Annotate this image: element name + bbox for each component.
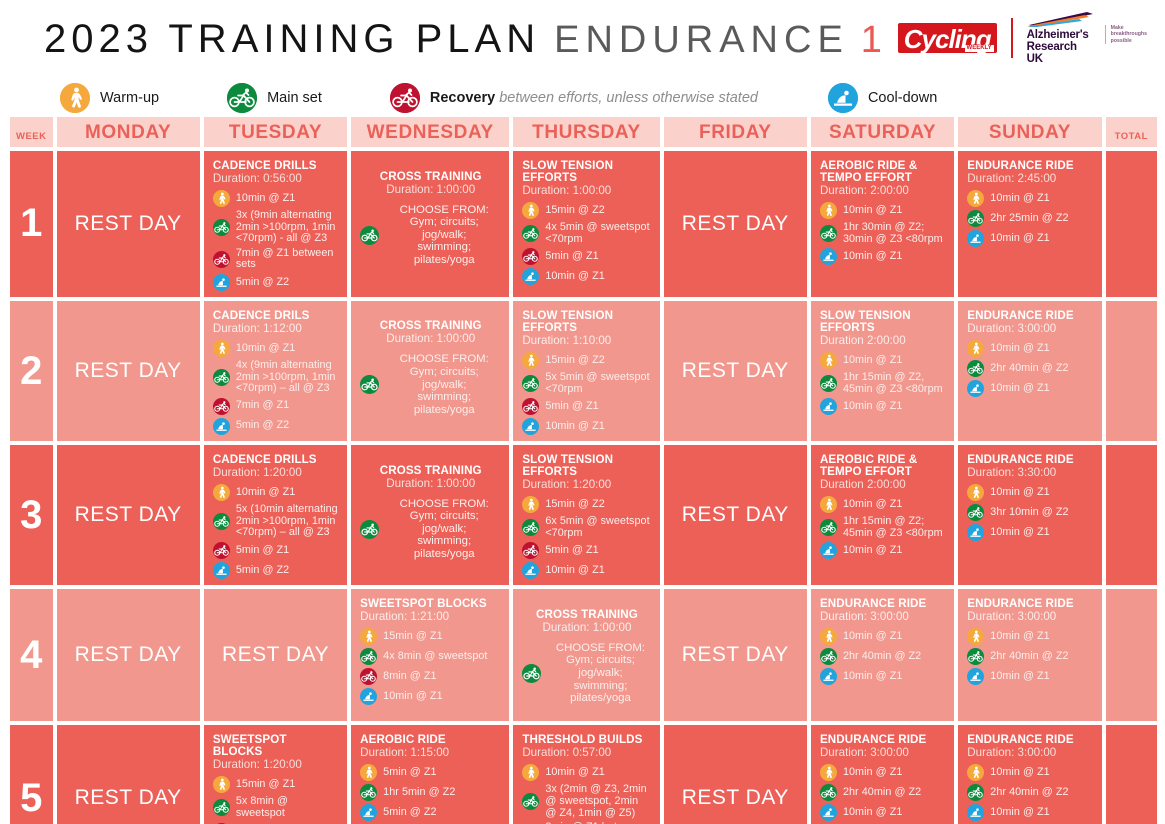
cell-monday[interactable]: REST DAY	[57, 151, 200, 297]
session-steps: 15min @ Z2 5x 5min @ sweetspot <70rpm 5m…	[522, 352, 651, 435]
cool-down-icon	[360, 688, 377, 705]
session-duration: Duration: 1:00:00	[360, 332, 501, 345]
session-duration: Duration: 3:30:00	[967, 466, 1093, 479]
table-row: 1 REST DAY CADENCE DRILLS Duration: 0:56…	[10, 151, 1157, 297]
session-title: CROSS TRAINING	[360, 171, 501, 183]
cell-saturday[interactable]: ENDURANCE RIDE Duration: 3:00:00 10min @…	[811, 589, 954, 721]
cell-sunday[interactable]: ENDURANCE RIDE Duration: 3:00:00 10min @…	[958, 589, 1101, 721]
warm-up-icon	[522, 496, 539, 513]
session-block: AEROBIC RIDE & TEMPO EFFORT Duration: 2:…	[811, 151, 954, 271]
session-title: CROSS TRAINING	[360, 320, 501, 332]
cell-monday[interactable]: REST DAY	[57, 725, 200, 824]
cell-total[interactable]	[1106, 151, 1157, 297]
session-step-text: 5min @ Z2	[236, 420, 289, 432]
session-step-text: 7min @ Z1 between sets	[236, 248, 339, 271]
session-block: SLOW TENSION EFFORTS Duration: 1:00:00 1…	[513, 151, 659, 291]
session-step-text: 15min @ Z2	[545, 355, 604, 367]
column-header-friday: FRIDAY	[664, 117, 807, 147]
session-step-text: 2hr 40min @ Z2	[990, 363, 1068, 375]
session-title: ENDURANCE RIDE	[820, 734, 946, 746]
session-title: ENDURANCE RIDE	[967, 160, 1093, 172]
session-step: 2hr 40min @ Z2	[967, 784, 1093, 801]
session-block: ENDURANCE RIDE Duration: 3:00:00 10min @…	[958, 589, 1101, 691]
session-step-text: 5min @ Z1	[236, 545, 289, 557]
cell-friday[interactable]: REST DAY	[664, 301, 807, 441]
rest-day-label: REST DAY	[664, 151, 807, 297]
session-step-text: 10min @ Z1	[990, 527, 1049, 539]
title-row: 2023 TRAINING PLAN ENDURANCE 1 Cycling W…	[18, 0, 1147, 69]
session-step: 10min @ Z1	[820, 248, 946, 265]
cell-wednesday[interactable]: CROSS TRAINING Duration: 1:00:00 CHOOSE …	[351, 445, 509, 585]
session-step: 10min @ Z1	[820, 764, 946, 781]
session-step: 2hr 40min @ Z2	[967, 360, 1093, 377]
recovery-icon	[360, 668, 377, 685]
session-step-text: 10min @ Z1	[990, 487, 1049, 499]
session-step: 10min @ Z1	[360, 688, 501, 705]
cool-down-icon	[522, 268, 539, 285]
recovery-icon	[522, 542, 539, 559]
session-duration: Duration: 1:10:00	[522, 334, 651, 347]
session-step-text: 10min @ Z1	[990, 631, 1049, 643]
rest-day-label: REST DAY	[57, 589, 200, 721]
alzheimers-research-uk-logo: Alzheimer'sResearchUK Makebreakthroughsp…	[1027, 11, 1147, 65]
session-duration: Duration: 1:00:00	[360, 477, 501, 490]
table-row: 4 REST DAY REST DAY SWEETSPOT BLOCKS Dur…	[10, 589, 1157, 721]
session-block: THRESHOLD BUILDS Duration: 0:57:00 10min…	[513, 725, 659, 824]
main-set-icon	[227, 83, 257, 113]
cell-saturday[interactable]: ENDURANCE RIDE Duration: 3:00:00 10min @…	[811, 725, 954, 824]
page-title: 2023 TRAINING PLAN	[44, 17, 540, 62]
cell-wednesday[interactable]: SWEETSPOT BLOCKS Duration: 1:21:00 15min…	[351, 589, 509, 721]
session-step-text: 10min @ Z1	[545, 271, 604, 283]
session-step: 4x 5min @ sweetspot <70rpm	[522, 222, 651, 245]
cell-saturday[interactable]: SLOW TENSION EFFORTS Duration 2:00:00 10…	[811, 301, 954, 441]
main-set-icon	[967, 648, 984, 665]
session-step: 10min @ Z1	[820, 542, 946, 559]
session-step: 6x 5min @ sweetspot <70rpm	[522, 516, 651, 539]
session-step: 1hr 15min @ Z2; 45min @ Z3 <80rpm	[820, 516, 946, 539]
rest-day-label: REST DAY	[664, 589, 807, 721]
training-plan-table: WEEK MONDAY TUESDAY WEDNESDAY THURSDAY F…	[10, 117, 1157, 824]
session-title: SLOW TENSION EFFORTS	[522, 160, 651, 184]
cell-thursday[interactable]: SLOW TENSION EFFORTS Duration: 1:20:00 1…	[513, 445, 659, 585]
cell-thursday[interactable]: SLOW TENSION EFFORTS Duration: 1:10:00 1…	[513, 301, 659, 441]
cool-down-icon	[820, 542, 837, 559]
recovery-icon	[390, 83, 420, 113]
page-subtitle: ENDURANCE	[554, 19, 849, 62]
plan-number: 1	[861, 19, 884, 62]
cell-sunday[interactable]: ENDURANCE RIDE Duration: 3:30:00 10min @…	[958, 445, 1101, 585]
legend-label-recovery: Recovery between efforts, unless otherwi…	[430, 90, 758, 106]
session-title: CADENCE DRILLS	[213, 160, 339, 172]
cool-down-icon	[967, 524, 984, 541]
session-step: 5min @ Z1	[522, 248, 651, 265]
session-step: 10min @ Z1	[820, 668, 946, 685]
warm-up-icon	[213, 776, 230, 793]
session-step: 5x 5min @ sweetspot <70rpm	[522, 372, 651, 395]
recovery-icon	[213, 251, 230, 268]
session-step: 5x (10min alternating 2min >100rpm, 1min…	[213, 504, 339, 539]
main-set-icon	[820, 375, 837, 392]
session-duration: Duration: 3:00:00	[820, 746, 946, 759]
session-step-text: 5x 5min @ sweetspot <70rpm	[545, 372, 651, 395]
warm-up-icon	[967, 764, 984, 781]
session-step-text: 5x 8min @ sweetspot	[236, 796, 339, 819]
session-duration: Duration: 1:15:00	[360, 746, 501, 759]
session-block: ENDURANCE RIDE Duration: 3:00:00 10min @…	[811, 725, 954, 824]
session-step: 8min @ Z1	[360, 668, 501, 685]
session-title: ENDURANCE RIDE	[820, 598, 946, 610]
session-title: AEROBIC RIDE	[360, 734, 501, 746]
cell-monday[interactable]: REST DAY	[57, 445, 200, 585]
session-block: SLOW TENSION EFFORTS Duration: 1:10:00 1…	[513, 301, 659, 441]
cell-tuesday[interactable]: REST DAY	[204, 589, 347, 721]
session-duration: Duration: 0:56:00	[213, 172, 339, 185]
session-step-text: 15min @ Z2	[545, 499, 604, 511]
cool-down-icon	[213, 274, 230, 291]
session-step-text: 10min @ Z1	[990, 343, 1049, 355]
session-step-text: 2hr 40min @ Z2	[843, 787, 921, 799]
session-step-text: 10min @ Z1	[843, 401, 902, 413]
session-block: CROSS TRAINING Duration: 1:00:00 CHOOSE …	[351, 445, 509, 577]
session-steps: 10min @ Z1 1hr 15min @ Z2, 45min @ Z3 <8…	[820, 352, 946, 415]
cell-week-number: 2	[10, 301, 53, 441]
session-step: 10min @ Z1	[967, 340, 1093, 357]
session-step: 3x (9min alternating 2min >100rpm, 1min …	[213, 210, 339, 245]
legend-label-main-set: Main set	[267, 90, 322, 106]
cycling-weekly-logo: Cycling WEEKLY	[898, 23, 997, 53]
session-step-text: 10min @ Z1	[990, 807, 1049, 819]
cell-monday[interactable]: REST DAY	[57, 301, 200, 441]
session-step-text: 3hr 10min @ Z2	[990, 507, 1068, 519]
session-title: SLOW TENSION EFFORTS	[522, 454, 651, 478]
session-steps: 15min @ Z2 4x 5min @ sweetspot <70rpm 5m…	[522, 202, 651, 285]
column-header-wednesday: WEDNESDAY	[351, 117, 509, 147]
session-steps: 10min @ Z1 2hr 40min @ Z2 10min @ Z1	[820, 628, 946, 685]
cell-saturday[interactable]: AEROBIC RIDE & TEMPO EFFORT Duration 2:0…	[811, 445, 954, 585]
session-step-text: 5min @ Z1	[545, 251, 598, 263]
cell-friday[interactable]: REST DAY	[664, 445, 807, 585]
main-set-icon	[820, 648, 837, 665]
session-step: 3x (2min @ Z3, 2min @ sweetspot, 2min @ …	[522, 784, 651, 819]
session-step-text: 10min @ Z1	[990, 233, 1049, 245]
cool-down-icon	[820, 804, 837, 821]
main-set-icon	[522, 664, 541, 683]
cool-down-icon	[967, 380, 984, 397]
session-steps: 10min @ Z1 1hr 15min @ Z2; 45min @ Z3 <8…	[820, 496, 946, 559]
session-step: 10min @ Z1	[213, 190, 339, 207]
session-duration: Duration: 1:00:00	[522, 621, 651, 634]
session-step-text: 6x 5min @ sweetspot <70rpm	[545, 516, 651, 539]
session-step: 2hr 40min @ Z2	[820, 648, 946, 665]
week-number: 4	[10, 589, 53, 721]
rest-day-label: REST DAY	[57, 301, 200, 441]
column-header-tuesday: TUESDAY	[204, 117, 347, 147]
warm-up-icon	[967, 484, 984, 501]
cool-down-icon	[360, 804, 377, 821]
session-step: 5min @ Z2	[213, 562, 339, 579]
rest-day-label: REST DAY	[664, 301, 807, 441]
session-block: CADENCE DRILLS Duration: 0:56:00 10min @…	[204, 151, 347, 297]
session-title: CADENCE DRILS	[213, 310, 339, 322]
session-block: ENDURANCE RIDE Duration: 3:00:00 10min @…	[958, 301, 1101, 403]
cell-total[interactable]	[1106, 589, 1157, 721]
main-set-icon	[820, 784, 837, 801]
session-title: SLOW TENSION EFFORTS	[522, 310, 651, 334]
session-step: 10min @ Z1	[522, 562, 651, 579]
legend-item-warm-up: Warm-up	[60, 83, 159, 113]
session-step-text: 15min @ Z1	[383, 631, 442, 643]
main-set-icon	[213, 219, 230, 236]
rest-day-label: REST DAY	[57, 725, 200, 824]
cell-sunday[interactable]: ENDURANCE RIDE Duration: 3:00:00 10min @…	[958, 301, 1101, 441]
cell-total[interactable]	[1106, 445, 1157, 585]
session-title: CADENCE DRILLS	[213, 454, 339, 466]
cycling-weekly-sub: WEEKLY	[965, 45, 994, 52]
session-step: 4x (9min alternating 2min >100rpm, 1min …	[213, 360, 339, 395]
cross-training-body: CHOOSE FROM:Gym; circuits; jog/walk;swim…	[360, 353, 501, 416]
warm-up-icon	[967, 628, 984, 645]
session-duration: Duration: 1:21:00	[360, 610, 501, 623]
legend-item-recovery: Recovery between efforts, unless otherwi…	[390, 83, 758, 113]
cell-sunday[interactable]: ENDURANCE RIDE Duration: 2:45:00 10min @…	[958, 151, 1101, 297]
cross-training-body: CHOOSE FROM:Gym; circuits; jog/walk;swim…	[522, 642, 651, 705]
session-step: 15min @ Z1	[213, 776, 339, 793]
table-header-row: WEEK MONDAY TUESDAY WEDNESDAY THURSDAY F…	[10, 117, 1157, 147]
table-body: 1 REST DAY CADENCE DRILLS Duration: 0:56…	[10, 151, 1157, 824]
session-step: 1hr 15min @ Z2, 45min @ Z3 <80rpm	[820, 372, 946, 395]
warm-up-icon	[820, 764, 837, 781]
recovery-icon	[522, 248, 539, 265]
warm-up-icon	[820, 202, 837, 219]
session-title: THRESHOLD BUILDS	[522, 734, 651, 746]
cross-training-body: CHOOSE FROM:Gym; circuits; jog/walk;swim…	[360, 204, 501, 267]
cool-down-icon	[522, 418, 539, 435]
cell-tuesday[interactable]: CADENCE DRILLS Duration: 0:56:00 10min @…	[204, 151, 347, 297]
column-header-saturday: SATURDAY	[811, 117, 954, 147]
session-steps: 10min @ Z1 5x (10min alternating 2min >1…	[213, 484, 339, 579]
session-steps: 10min @ Z1 2hr 40min @ Z2 10min @ Z1	[967, 340, 1093, 397]
session-title: ENDURANCE RIDE	[967, 734, 1093, 746]
session-step-text: 10min @ Z1	[236, 193, 295, 205]
cool-down-icon	[820, 668, 837, 685]
cell-wednesday[interactable]: CROSS TRAINING Duration: 1:00:00 CHOOSE …	[351, 151, 509, 297]
session-block: SLOW TENSION EFFORTS Duration 2:00:00 10…	[811, 301, 954, 421]
legend: Warm-up Main set	[18, 83, 1147, 113]
warm-up-icon	[360, 628, 377, 645]
session-step: 5min @ Z1	[360, 764, 501, 781]
cell-week-number: 5	[10, 725, 53, 824]
training-plan-page: 2023 TRAINING PLAN ENDURANCE 1 Cycling W…	[0, 0, 1165, 824]
session-steps: 10min @ Z1 3hr 10min @ Z2 10min @ Z1	[967, 484, 1093, 541]
warm-up-icon	[522, 202, 539, 219]
session-step: 10min @ Z1	[522, 268, 651, 285]
cool-down-icon	[213, 562, 230, 579]
session-step: 10min @ Z1	[967, 524, 1093, 541]
arkuk-wordmark: Alzheimer'sResearchUK	[1027, 29, 1099, 65]
cell-tuesday[interactable]: CADENCE DRILS Duration: 1:12:00 10min @ …	[204, 301, 347, 441]
main-set-icon	[213, 513, 230, 530]
session-step: 4x 8min @ sweetspot	[360, 648, 501, 665]
main-set-icon	[360, 226, 379, 245]
session-step: 1hr 30min @ Z2; 30min @ Z3 <80rpm	[820, 222, 946, 245]
session-step-text: 10min @ Z1	[843, 499, 902, 511]
cool-down-icon	[522, 562, 539, 579]
session-title: AEROBIC RIDE & TEMPO EFFORT	[820, 454, 946, 478]
legend-item-cool-down: Cool-down	[828, 83, 937, 113]
cell-total[interactable]	[1106, 725, 1157, 824]
rest-day-label: REST DAY	[57, 151, 200, 297]
session-step: 2hr 25min @ Z2	[967, 210, 1093, 227]
cell-total[interactable]	[1106, 301, 1157, 441]
page-header: 2023 TRAINING PLAN ENDURANCE 1 Cycling W…	[0, 0, 1165, 113]
cross-training-options: CHOOSE FROM:Gym; circuits; jog/walk;swim…	[387, 353, 501, 416]
session-step: 15min @ Z2	[522, 352, 651, 369]
session-steps: 5min @ Z1 1hr 5min @ Z2 5min @ Z2	[360, 764, 501, 821]
rest-day-label: REST DAY	[664, 445, 807, 585]
session-step: 10min @ Z1	[820, 398, 946, 415]
warm-up-icon	[967, 190, 984, 207]
session-steps: 10min @ Z1 4x (9min alternating 2min >10…	[213, 340, 339, 435]
session-step: 2hr 40min @ Z2	[967, 648, 1093, 665]
session-step-text: 5min @ Z1	[383, 767, 436, 779]
cell-monday[interactable]: REST DAY	[57, 589, 200, 721]
session-step: 10min @ Z1	[967, 230, 1093, 247]
session-duration: Duration: 3:00:00	[967, 322, 1093, 335]
session-step-text: 10min @ Z1	[383, 691, 442, 703]
session-step-text: 3x (2min @ Z3, 2min @ sweetspot, 2min @ …	[545, 784, 651, 819]
cross-training-options: CHOOSE FROM:Gym; circuits; jog/walk;swim…	[387, 204, 501, 267]
session-step-text: 10min @ Z1	[545, 421, 604, 433]
session-step-text: 4x 8min @ sweetspot	[383, 651, 487, 663]
session-step: 15min @ Z1	[360, 628, 501, 645]
recovery-icon	[213, 398, 230, 415]
session-step-text: 10min @ Z1	[843, 671, 902, 683]
session-title: SWEETSPOT BLOCKS	[360, 598, 501, 610]
session-step: 10min @ Z1	[967, 668, 1093, 685]
cell-tuesday[interactable]: CADENCE DRILLS Duration: 1:20:00 10min @…	[204, 445, 347, 585]
session-steps: 10min @ Z1 2hr 40min @ Z2 10min @ Z1	[820, 764, 946, 821]
column-header-week: WEEK	[10, 117, 53, 147]
main-set-icon	[522, 375, 539, 392]
session-step-text: 10min @ Z1	[545, 767, 604, 779]
session-step: 7min @ Z1 between sets	[213, 248, 339, 271]
session-steps: 10min @ Z1 2hr 40min @ Z2 10min @ Z1	[967, 628, 1093, 685]
cell-week-number: 1	[10, 151, 53, 297]
session-step-text: 2hr 40min @ Z2	[990, 787, 1068, 799]
table-row: 5 REST DAY SWEETSPOT BLOCKS Duration: 1:…	[10, 725, 1157, 824]
warm-up-icon	[360, 764, 377, 781]
session-step: 10min @ Z1	[967, 764, 1093, 781]
main-set-icon	[213, 369, 230, 386]
session-step-text: 15min @ Z2	[545, 205, 604, 217]
session-step-text: 5min @ Z2	[236, 277, 289, 289]
session-title: ENDURANCE RIDE	[967, 598, 1093, 610]
session-steps: 10min @ Z1 3x (2min @ Z3, 2min @ sweetsp…	[522, 764, 651, 824]
session-step: 10min @ Z1	[820, 496, 946, 513]
cell-friday[interactable]: REST DAY	[664, 725, 807, 824]
session-title: CROSS TRAINING	[522, 609, 651, 621]
session-step-text: 10min @ Z1	[843, 807, 902, 819]
session-step-text: 10min @ Z1	[990, 193, 1049, 205]
cool-down-icon	[967, 230, 984, 247]
session-duration: Duration 2:00:00	[820, 334, 946, 347]
session-step-text: 3x (9min alternating 2min >100rpm, 1min …	[236, 210, 339, 245]
cell-friday[interactable]: REST DAY	[664, 589, 807, 721]
cool-down-icon	[828, 83, 858, 113]
session-step: 10min @ Z1	[967, 804, 1093, 821]
session-duration: Duration: 2:00:00	[820, 184, 946, 197]
cell-thursday[interactable]: SLOW TENSION EFFORTS Duration: 1:00:00 1…	[513, 151, 659, 297]
swoosh-icon	[1027, 11, 1099, 27]
session-step: 10min @ Z1	[820, 804, 946, 821]
arkuk-left: Alzheimer'sResearchUK	[1027, 11, 1099, 65]
session-steps: 10min @ Z1 3x (9min alternating 2min >10…	[213, 190, 339, 291]
cell-sunday[interactable]: ENDURANCE RIDE Duration: 3:00:00 10min @…	[958, 725, 1101, 824]
brand-logos: Cycling WEEKLY Alzheimer'sResearchUK Mak…	[898, 11, 1147, 65]
week-number: 2	[10, 301, 53, 441]
week-number: 5	[10, 725, 53, 824]
session-title: ENDURANCE RIDE	[967, 310, 1093, 322]
session-step-text: 1hr 30min @ Z2; 30min @ Z3 <80rpm	[843, 222, 946, 245]
cell-thursday[interactable]: THRESHOLD BUILDS Duration: 0:57:00 10min…	[513, 725, 659, 824]
session-step-text: 10min @ Z1	[843, 355, 902, 367]
cell-friday[interactable]: REST DAY	[664, 151, 807, 297]
week-number: 3	[10, 445, 53, 585]
column-header-monday: MONDAY	[57, 117, 200, 147]
session-step-text: 10min @ Z1	[843, 545, 902, 557]
week-number: 1	[10, 151, 53, 297]
recovery-icon	[522, 398, 539, 415]
cell-wednesday[interactable]: AEROBIC RIDE Duration: 1:15:00 5min @ Z1…	[351, 725, 509, 824]
session-block: AEROBIC RIDE Duration: 1:15:00 5min @ Z1…	[351, 725, 509, 824]
session-step-text: 5min @ Z1	[545, 401, 598, 413]
session-block: ENDURANCE RIDE Duration: 3:00:00 10min @…	[811, 589, 954, 691]
cell-wednesday[interactable]: CROSS TRAINING Duration: 1:00:00 CHOOSE …	[351, 301, 509, 441]
main-set-icon	[522, 519, 539, 536]
session-title: SLOW TENSION EFFORTS	[820, 310, 946, 334]
main-set-icon	[967, 360, 984, 377]
session-steps: 10min @ Z1 2hr 25min @ Z2 10min @ Z1	[967, 190, 1093, 247]
session-step-text: 10min @ Z1	[843, 767, 902, 779]
session-step: 5min @ Z2	[360, 804, 501, 821]
session-duration: Duration: 2:45:00	[967, 172, 1093, 185]
cell-thursday[interactable]: CROSS TRAINING Duration: 1:00:00 CHOOSE …	[513, 589, 659, 721]
session-step-text: 2hr 40min @ Z2	[843, 651, 921, 663]
session-step: 1hr 5min @ Z2	[360, 784, 501, 801]
cool-down-icon	[820, 248, 837, 265]
session-title: SWEETSPOT BLOCKS	[213, 734, 339, 758]
session-duration: Duration: 3:00:00	[967, 610, 1093, 623]
column-header-thursday: THURSDAY	[513, 117, 659, 147]
cell-tuesday[interactable]: SWEETSPOT BLOCKS Duration: 1:20:00 15min…	[204, 725, 347, 824]
session-step: 15min @ Z2	[522, 202, 651, 219]
session-step-text: 5min @ Z2	[236, 565, 289, 577]
main-set-icon	[820, 519, 837, 536]
session-step-text: 2hr 40min @ Z2	[990, 651, 1068, 663]
warm-up-icon	[60, 83, 90, 113]
table-row: 2 REST DAY CADENCE DRILS Duration: 1:12:…	[10, 301, 1157, 441]
session-step: 10min @ Z1	[522, 764, 651, 781]
warm-up-icon	[820, 352, 837, 369]
session-block: SLOW TENSION EFFORTS Duration: 1:20:00 1…	[513, 445, 659, 585]
cell-week-number: 3	[10, 445, 53, 585]
session-step-text: 4x (9min alternating 2min >100rpm, 1min …	[236, 360, 339, 395]
cell-saturday[interactable]: AEROBIC RIDE & TEMPO EFFORT Duration: 2:…	[811, 151, 954, 297]
table-row: 3 REST DAY CADENCE DRILLS Duration: 1:20…	[10, 445, 1157, 585]
session-step-text: 10min @ Z1	[545, 565, 604, 577]
cool-down-icon	[967, 668, 984, 685]
